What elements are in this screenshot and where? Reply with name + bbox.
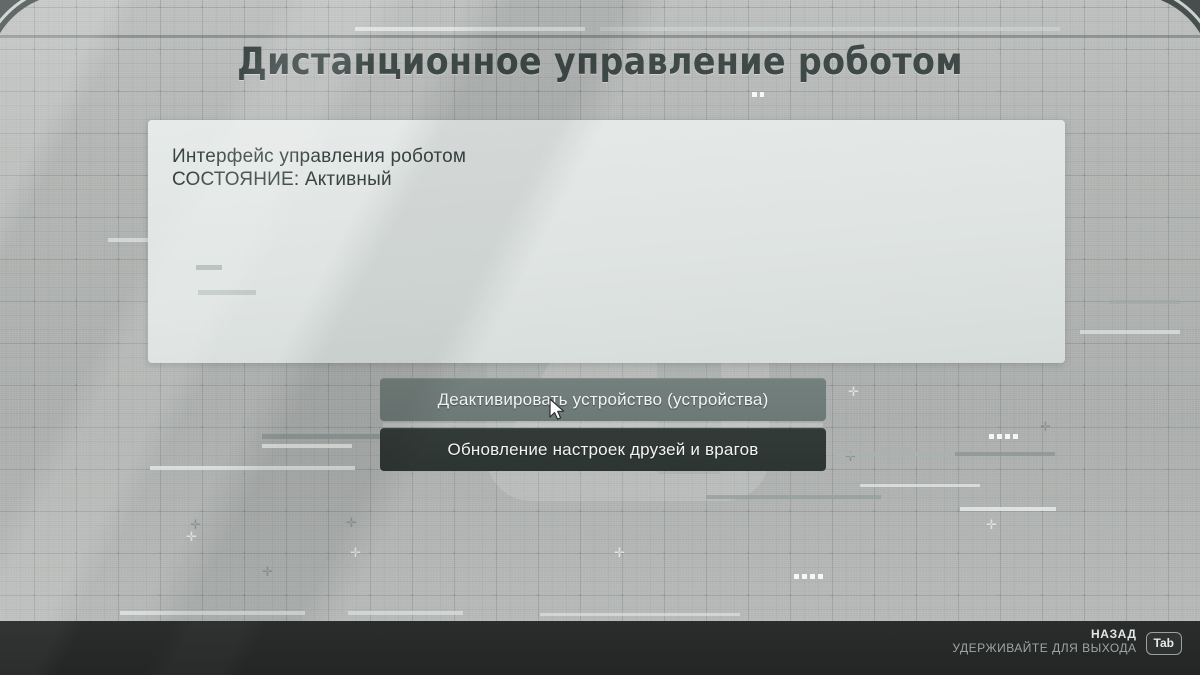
decor-glitch-bar	[383, 423, 823, 427]
decor-plus-icon: ✛	[1040, 420, 1051, 433]
decor-dot-group	[752, 92, 764, 97]
decor-plus-icon: ✛	[262, 565, 273, 578]
tab-keycap[interactable]: Tab	[1146, 632, 1182, 655]
decor-glitch-bar	[150, 466, 355, 470]
hold-to-exit-label: УДЕРЖИВАЙТЕ ДЛЯ ВЫХОДА	[952, 642, 1136, 656]
decor-glitch-bar	[1110, 300, 1180, 304]
decor-glitch-bar	[540, 613, 740, 616]
deactivate-devices-button[interactable]: Деактивировать устройство (устройства)	[380, 378, 826, 421]
decor-glitch-bar	[262, 444, 352, 448]
decor-glitch-bar	[196, 265, 222, 270]
decor-plus-icon: ✛	[346, 516, 357, 529]
decor-glitch-bar	[262, 434, 392, 439]
decor-dot-group	[794, 574, 823, 579]
decor-dot-group	[989, 434, 1018, 439]
update-iff-settings-button[interactable]: Обновление настроек друзей и врагов	[380, 428, 826, 471]
mouse-cursor-icon	[549, 398, 566, 422]
back-hint-label: НАЗАД	[1091, 628, 1137, 642]
decor-plus-icon: ✛	[350, 546, 361, 559]
header-glitch-bar	[355, 27, 585, 31]
page-title: Дистанционное управление роботом	[0, 40, 1200, 83]
header-divider-line	[0, 35, 1200, 38]
deactivate-devices-button-label: Деактивировать устройство (устройства)	[438, 390, 769, 410]
decor-glitch-bar	[198, 290, 256, 295]
decor-plus-icon: ✛	[848, 385, 859, 398]
panel-status-label: СОСТОЯНИЕ: Активный	[172, 169, 392, 191]
decor-glitch-bar	[120, 611, 305, 615]
decor-plus-icon: ✛	[190, 518, 201, 531]
decor-glitch-bar	[960, 507, 1056, 511]
header-glitch-bar	[600, 27, 1060, 31]
remote-robot-control-screen: ✛ ✛ ✛ ✛ ✛ ✛ ✛ ✛ ✛ ✛ Дистанционное управл…	[0, 0, 1200, 675]
decor-glitch-bar	[955, 452, 1055, 456]
decor-plus-icon: ✛	[614, 546, 625, 559]
back-hint[interactable]: НАЗАД УДЕРЖИВАЙТЕ ДЛЯ ВЫХОДА Tab	[952, 628, 1182, 656]
panel-interface-label: Интерфейс управления роботом	[172, 146, 466, 168]
robot-status-panel: Интерфейс управления роботом СОСТОЯНИЕ: …	[148, 120, 1065, 363]
decor-plus-icon: ✛	[986, 518, 997, 531]
decor-glitch-bar	[348, 611, 463, 615]
update-iff-settings-button-label: Обновление настроек друзей и врагов	[448, 440, 759, 460]
decor-glitch-bar	[1080, 330, 1180, 334]
decor-glitch-bar	[860, 484, 980, 487]
decor-glitch-bar	[836, 452, 954, 456]
decor-glitch-bar	[706, 495, 881, 499]
